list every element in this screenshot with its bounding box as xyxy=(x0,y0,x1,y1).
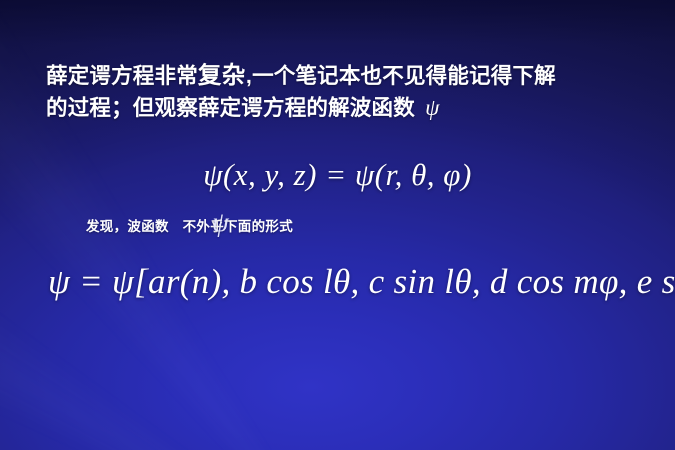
body-paragraph: 薛定谔方程非常复杂,一个笔记本也不见得能记得下解 的过程；但观察薛定谔方程的解波… xyxy=(46,60,646,124)
presentation-slide: 薛定谔方程非常复杂,一个笔记本也不见得能记得下解 的过程；但观察薛定谔方程的解波… xyxy=(0,0,675,450)
paragraph-lead-text: 薛定谔方程非常 xyxy=(46,64,198,88)
equation-1-text: ψ(x, y, z) = ψ(r, θ, φ) xyxy=(203,157,472,192)
background-top-shade xyxy=(0,0,675,44)
caption-text: 发现，波函数 不外乎下面的形式 xyxy=(86,215,293,235)
paragraph-emphasis-text: 复杂 xyxy=(198,62,246,88)
psi-symbol-inline: ψ xyxy=(421,95,440,120)
equation-2-text: ψ = ψ[ar(n), b cos lθ, c sin lθ, d cos m… xyxy=(48,262,675,301)
equation-wavefunction-form: ψ = ψ[ar(n), b cos lθ, c sin lθ, d cos m… xyxy=(48,262,675,302)
psi-symbol-artifact: ψ xyxy=(212,209,229,236)
equation-coordinate-transform: ψ(x, y, z) = ψ(r, θ, φ) xyxy=(0,157,675,193)
